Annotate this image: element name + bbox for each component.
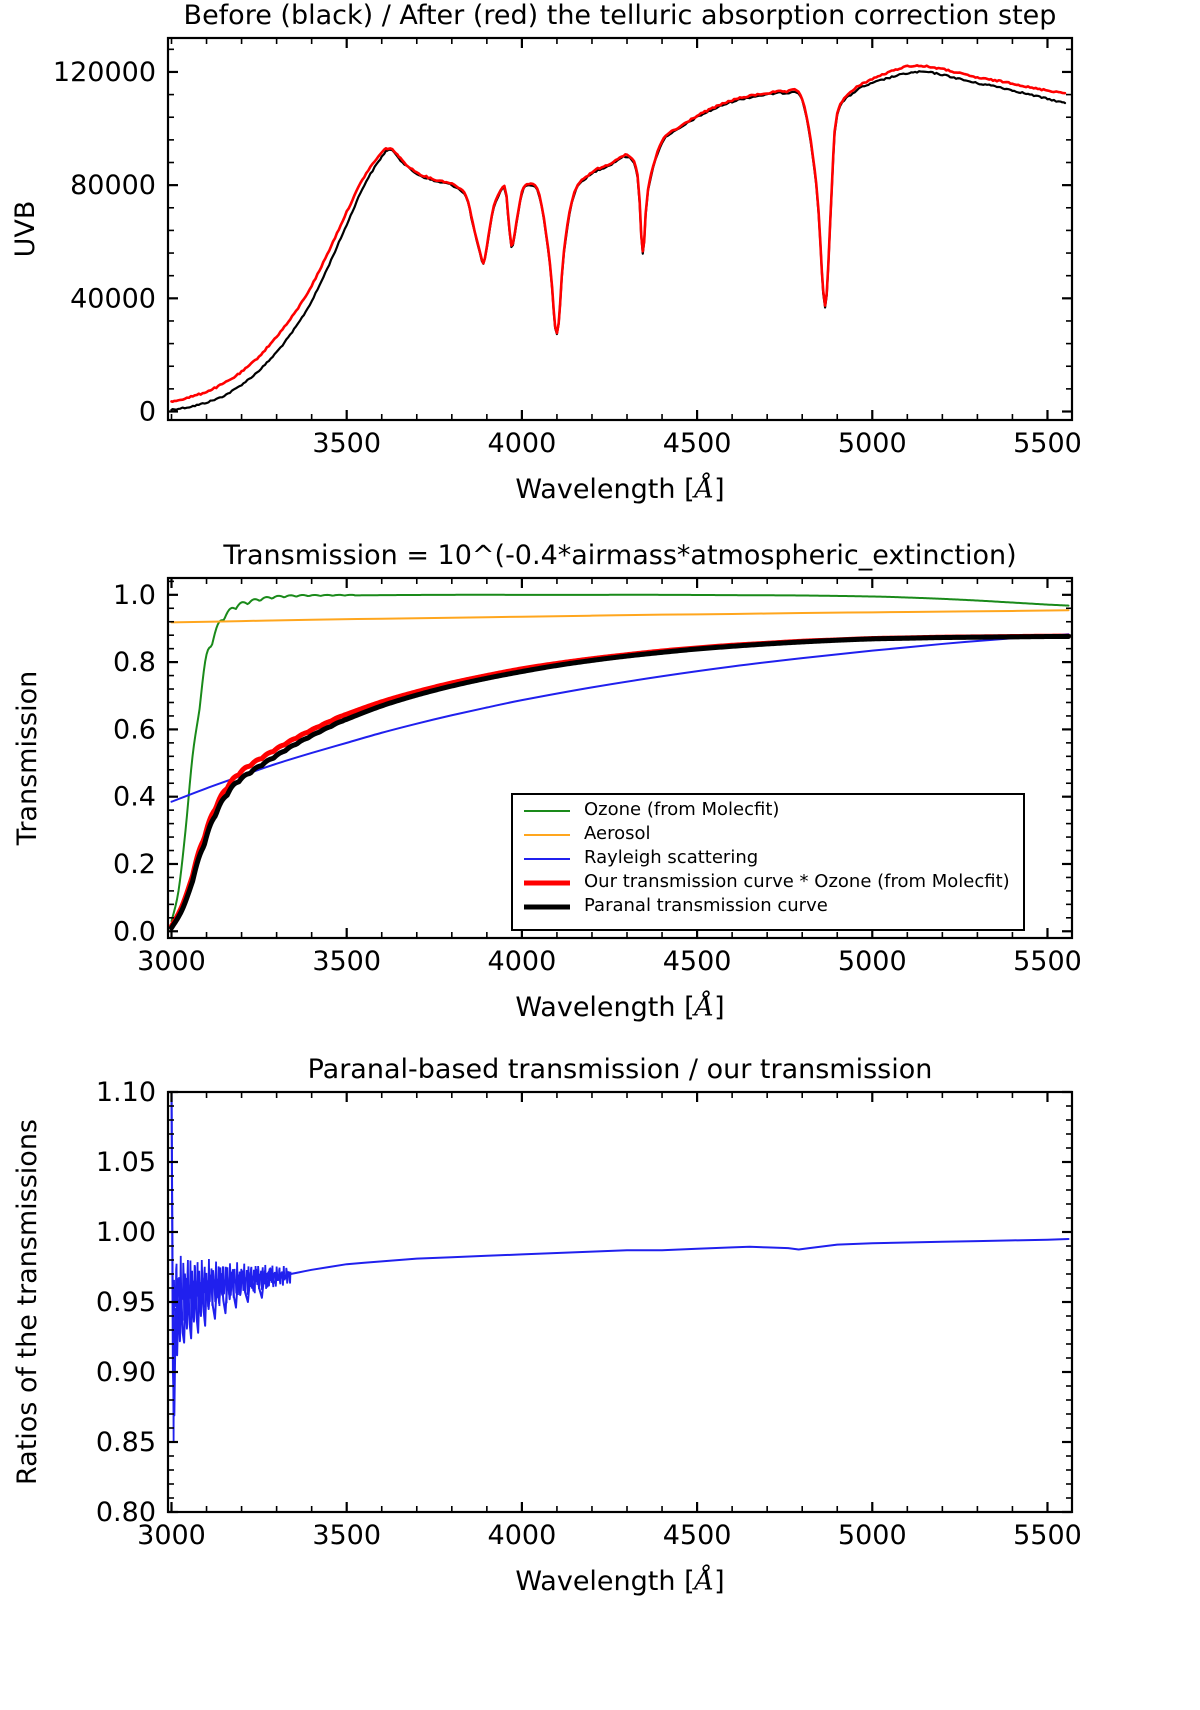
panel2-ylabel: Transmission: [12, 671, 43, 846]
panel1-svg: Before (black) / After (red) the telluri…: [0, 0, 1200, 520]
panel3-xtick-4: 5000: [838, 1520, 907, 1551]
legend-label-3: Our transmission curve * Ozone (from Mol…: [584, 871, 1010, 892]
panel1-xtick-0: 3500: [312, 428, 381, 459]
panel2-xtick-2: 4000: [488, 946, 557, 977]
panel2-ytick-4: 0.8: [113, 647, 156, 678]
panel3-plot-area: [172, 1064, 1069, 1442]
panel1-series-1: [172, 65, 1065, 401]
panel2-ytick-3: 0.6: [113, 714, 156, 745]
panel3-ticks: 3000350040004500500055000.800.850.900.95…: [96, 1077, 1082, 1551]
panel3-xtick-5: 5500: [1013, 1520, 1082, 1551]
figure-root: Before (black) / After (red) the telluri…: [0, 0, 1200, 1710]
panel3-xtick-3: 4500: [663, 1520, 732, 1551]
panel3-xtick-2: 4000: [488, 1520, 557, 1551]
panel1-ticks: 3500400045005000550004000080000120000: [53, 38, 1082, 459]
legend-label-0: Ozone (from Molecfit): [584, 799, 779, 820]
panel2-xtick-3: 4500: [663, 946, 732, 977]
panel2-title: Transmission = 10^(-0.4*airmass*atmosphe…: [222, 540, 1016, 571]
panel3-ytick-4: 1.00: [96, 1217, 156, 1248]
panel1-xtick-3: 5000: [838, 428, 907, 459]
panel3-title: Paranal-based transmission / our transmi…: [308, 1054, 933, 1085]
panel3-ylabel: Ratios of the transmissions: [12, 1119, 43, 1485]
legend-label-2: Rayleigh scattering: [584, 847, 758, 868]
panel2-series-1: [172, 610, 1069, 622]
panel1-series-0: [172, 71, 1065, 410]
panel1-ytick-2: 80000: [70, 170, 156, 201]
panel2-xtick-1: 3500: [312, 946, 381, 977]
legend-label-1: Aerosol: [584, 823, 650, 844]
panel1-xlabel: Wavelength [Å]: [515, 472, 724, 505]
panel1-ytick-0: 0: [139, 397, 156, 428]
panel3-xtick-1: 3500: [312, 1520, 381, 1551]
panel2-ytick-2: 0.4: [113, 782, 156, 813]
panel1-xtick-1: 4000: [488, 428, 557, 459]
panel1-ylabel: UVB: [10, 201, 41, 258]
panel3-oscillation: [172, 1064, 291, 1442]
panel3-xlabel: Wavelength [Å]: [515, 1564, 724, 1597]
panel2-ytick-0: 0.0: [113, 916, 156, 947]
panel3-ytick-2: 0.90: [96, 1357, 156, 1388]
panel3-ytick-1: 0.85: [96, 1427, 156, 1458]
panel3-ytick-0: 0.80: [96, 1497, 156, 1528]
panel2-ytick-1: 0.2: [113, 849, 156, 880]
panel3-ytick-3: 0.95: [96, 1287, 156, 1318]
panel1-ytick-1: 40000: [70, 283, 156, 314]
panel2-xtick-5: 5500: [1013, 946, 1082, 977]
panel1-xtick-2: 4500: [663, 428, 732, 459]
panel2-svg: Transmission = 10^(-0.4*airmass*atmosphe…: [0, 520, 1200, 1040]
panel1-plot-area: [172, 65, 1065, 409]
panel3-ytick-6: 1.10: [96, 1077, 156, 1108]
panel3-ytick-5: 1.05: [96, 1147, 156, 1178]
panel2-ytick-5: 1.0: [113, 580, 156, 611]
panel3-frame: [168, 1092, 1072, 1512]
panel1-xtick-4: 5500: [1013, 428, 1082, 459]
panel3-series-0: [172, 1092, 1069, 1415]
panel2-xtick-4: 5000: [838, 946, 907, 977]
panel3-svg: Paranal-based transmission / our transmi…: [0, 1040, 1200, 1710]
panel-transmission: Transmission = 10^(-0.4*airmass*atmosphe…: [0, 520, 1200, 1040]
legend-label-4: Paranal transmission curve: [584, 895, 828, 916]
panel-uvb-spectrum: Before (black) / After (red) the telluri…: [0, 0, 1200, 520]
panel2-legend: Ozone (from Molecfit)AerosolRayleigh sca…: [512, 794, 1024, 930]
panel-ratio: Paranal-based transmission / our transmi…: [0, 1040, 1200, 1710]
panel1-title: Before (black) / After (red) the telluri…: [184, 0, 1057, 31]
panel2-xlabel: Wavelength [Å]: [515, 990, 724, 1023]
panel1-frame: [168, 38, 1072, 420]
panel1-ytick-3: 120000: [53, 57, 156, 88]
panel2-xtick-0: 3000: [137, 946, 206, 977]
